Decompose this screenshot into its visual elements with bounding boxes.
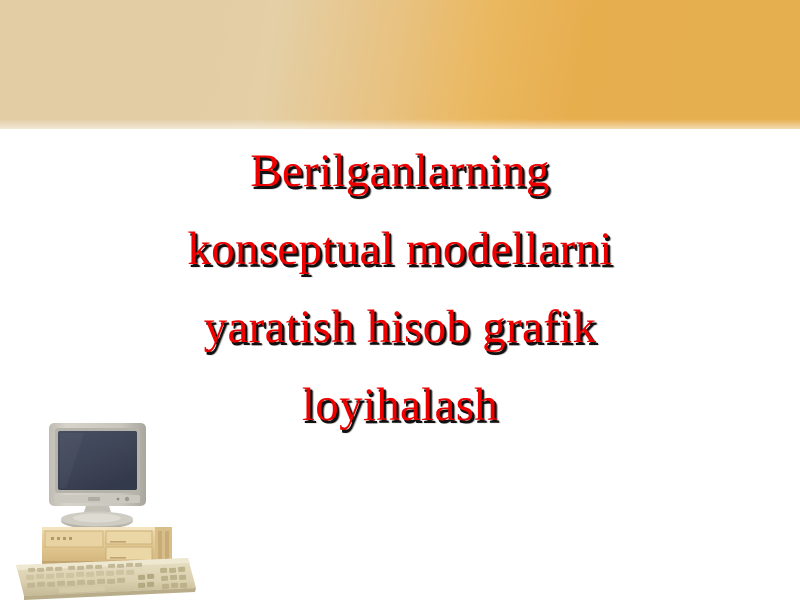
keyboard-icon [16,558,196,600]
banner-bottom-fade [0,119,800,129]
title-line-3: yaratish hisob grafik [0,288,800,366]
crt-monitor-icon [49,423,146,529]
title-line-2: konseptual modellarni [0,210,800,288]
desktop-computer-illustration [14,418,214,600]
presentation-slide: Berilganlarning konseptual modellarni ya… [0,0,800,600]
computer-case-icon [42,527,172,564]
header-gradient-banner [0,0,800,129]
slide-title: Berilganlarning konseptual modellarni ya… [0,132,800,444]
title-line-1: Berilganlarning [0,132,800,210]
